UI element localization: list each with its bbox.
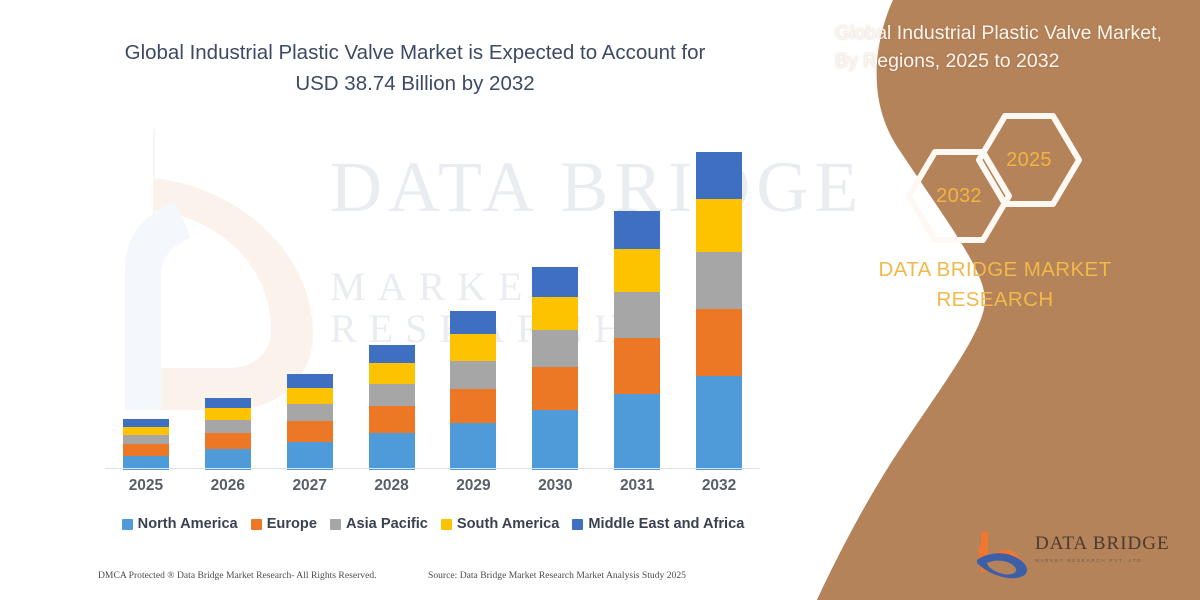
segment-middle-east-and-africa-2030[interactable] (532, 267, 578, 297)
page-title: Global Industrial Plastic Valve Market i… (110, 38, 720, 100)
legend-label-north-america: North America (138, 516, 238, 532)
segment-south-america-2029[interactable] (450, 334, 496, 360)
segment-south-america-2026[interactable] (205, 408, 251, 420)
bar-2032[interactable] (696, 152, 742, 470)
x-label-2032: 2032 (684, 477, 754, 495)
segment-south-america-2030[interactable] (532, 297, 578, 331)
segment-north-america-2030[interactable] (532, 410, 578, 470)
stacked-bar-chart (105, 130, 760, 470)
legend-swatch-middle-east-and-africa (572, 519, 583, 530)
bar-2026[interactable] (205, 398, 251, 470)
segment-europe-2025[interactable] (123, 444, 169, 455)
segment-north-america-2027[interactable] (287, 442, 333, 470)
brand-panel: Global Industrial Plastic Valve Market, … (780, 0, 1200, 600)
segment-north-america-2026[interactable] (205, 449, 251, 470)
x-label-2025: 2025 (111, 477, 181, 495)
bar-2025[interactable] (123, 419, 169, 470)
brand-panel-name: DATA BRIDGE MARKET RESEARCH (820, 255, 1170, 314)
legend-label-middle-east-and-africa: Middle East and Africa (588, 516, 744, 532)
hexagon-year-2025: 2025 (975, 112, 1083, 208)
segment-middle-east-and-africa-2029[interactable] (450, 311, 496, 335)
data-bridge-logo-mark-icon (975, 530, 1029, 580)
segment-south-america-2025[interactable] (123, 427, 169, 436)
bar-2030[interactable] (532, 267, 578, 470)
legend-item-middle-east-and-africa[interactable]: Middle East and Africa (572, 516, 744, 532)
segment-middle-east-and-africa-2032[interactable] (696, 152, 742, 199)
legend-swatch-asia-pacific (330, 519, 341, 530)
bar-2028[interactable] (369, 345, 415, 470)
segment-europe-2032[interactable] (696, 309, 742, 376)
legend-label-asia-pacific: Asia Pacific (346, 516, 428, 532)
x-label-2027: 2027 (275, 477, 345, 495)
legend-label-south-america: South America (457, 516, 559, 532)
legend-item-north-america[interactable]: North America (122, 516, 238, 532)
segment-north-america-2031[interactable] (614, 394, 660, 470)
segment-middle-east-and-africa-2025[interactable] (123, 419, 169, 426)
segment-asia-pacific-2031[interactable] (614, 292, 660, 338)
x-label-2026: 2026 (193, 477, 263, 495)
legend-swatch-europe (251, 519, 262, 530)
segment-middle-east-and-africa-2026[interactable] (205, 398, 251, 409)
segment-south-america-2027[interactable] (287, 388, 333, 404)
legend-item-asia-pacific[interactable]: Asia Pacific (330, 516, 428, 532)
brand-panel-title: Global Industrial Plastic Valve Market, … (835, 20, 1165, 75)
legend-item-south-america[interactable]: South America (441, 516, 559, 532)
segment-europe-2028[interactable] (369, 406, 415, 433)
chart-legend: North AmericaEuropeAsia PacificSouth Ame… (108, 512, 758, 536)
segment-europe-2029[interactable] (450, 389, 496, 423)
segment-europe-2031[interactable] (614, 338, 660, 393)
x-label-2028: 2028 (357, 477, 427, 495)
segment-south-america-2028[interactable] (369, 363, 415, 383)
segment-asia-pacific-2029[interactable] (450, 361, 496, 389)
x-label-2031: 2031 (602, 477, 672, 495)
bar-2031[interactable] (614, 211, 660, 470)
segment-asia-pacific-2030[interactable] (532, 330, 578, 366)
legend-label-europe: Europe (267, 516, 317, 532)
data-bridge-logo: DATA BRIDGE MARKET RESEARCH PVT. LTD. (975, 528, 1175, 584)
infographic-canvas: DATA BRIDGE MARKET RESEARCH Global Indus… (0, 0, 1200, 600)
x-axis-labels: 20252026202720282029203020312032 (105, 477, 760, 499)
segment-asia-pacific-2025[interactable] (123, 435, 169, 444)
segment-north-america-2032[interactable] (696, 376, 742, 470)
bar-2029[interactable] (450, 311, 496, 470)
legend-swatch-south-america (441, 519, 452, 530)
x-label-2029: 2029 (438, 477, 508, 495)
segment-south-america-2032[interactable] (696, 199, 742, 252)
segment-europe-2026[interactable] (205, 433, 251, 449)
segment-europe-2027[interactable] (287, 421, 333, 442)
segment-north-america-2029[interactable] (450, 423, 496, 470)
segment-middle-east-and-africa-2027[interactable] (287, 374, 333, 388)
segment-asia-pacific-2032[interactable] (696, 252, 742, 309)
segment-europe-2030[interactable] (532, 367, 578, 410)
segment-middle-east-and-africa-2028[interactable] (369, 345, 415, 363)
footer-copyright: DMCA Protected ® Data Bridge Market Rese… (98, 570, 377, 581)
data-bridge-logo-text: DATA BRIDGE MARKET RESEARCH PVT. LTD. (1035, 534, 1175, 563)
x-axis-line (105, 468, 760, 469)
hexagon-2025-label: 2025 (975, 112, 1083, 208)
segment-north-america-2028[interactable] (369, 433, 415, 470)
legend-swatch-north-america (122, 519, 133, 530)
logo-tagline: MARKET RESEARCH PVT. LTD. (1035, 558, 1175, 563)
x-label-2030: 2030 (520, 477, 590, 495)
segment-asia-pacific-2028[interactable] (369, 384, 415, 406)
segment-asia-pacific-2026[interactable] (205, 420, 251, 433)
segment-asia-pacific-2027[interactable] (287, 404, 333, 421)
segment-middle-east-and-africa-2031[interactable] (614, 211, 660, 249)
legend-item-europe[interactable]: Europe (251, 516, 317, 532)
footer-source: Source: Data Bridge Market Research Mark… (428, 570, 686, 581)
segment-south-america-2031[interactable] (614, 249, 660, 292)
bar-2027[interactable] (287, 374, 333, 470)
logo-wordmark: DATA BRIDGE (1035, 534, 1175, 553)
